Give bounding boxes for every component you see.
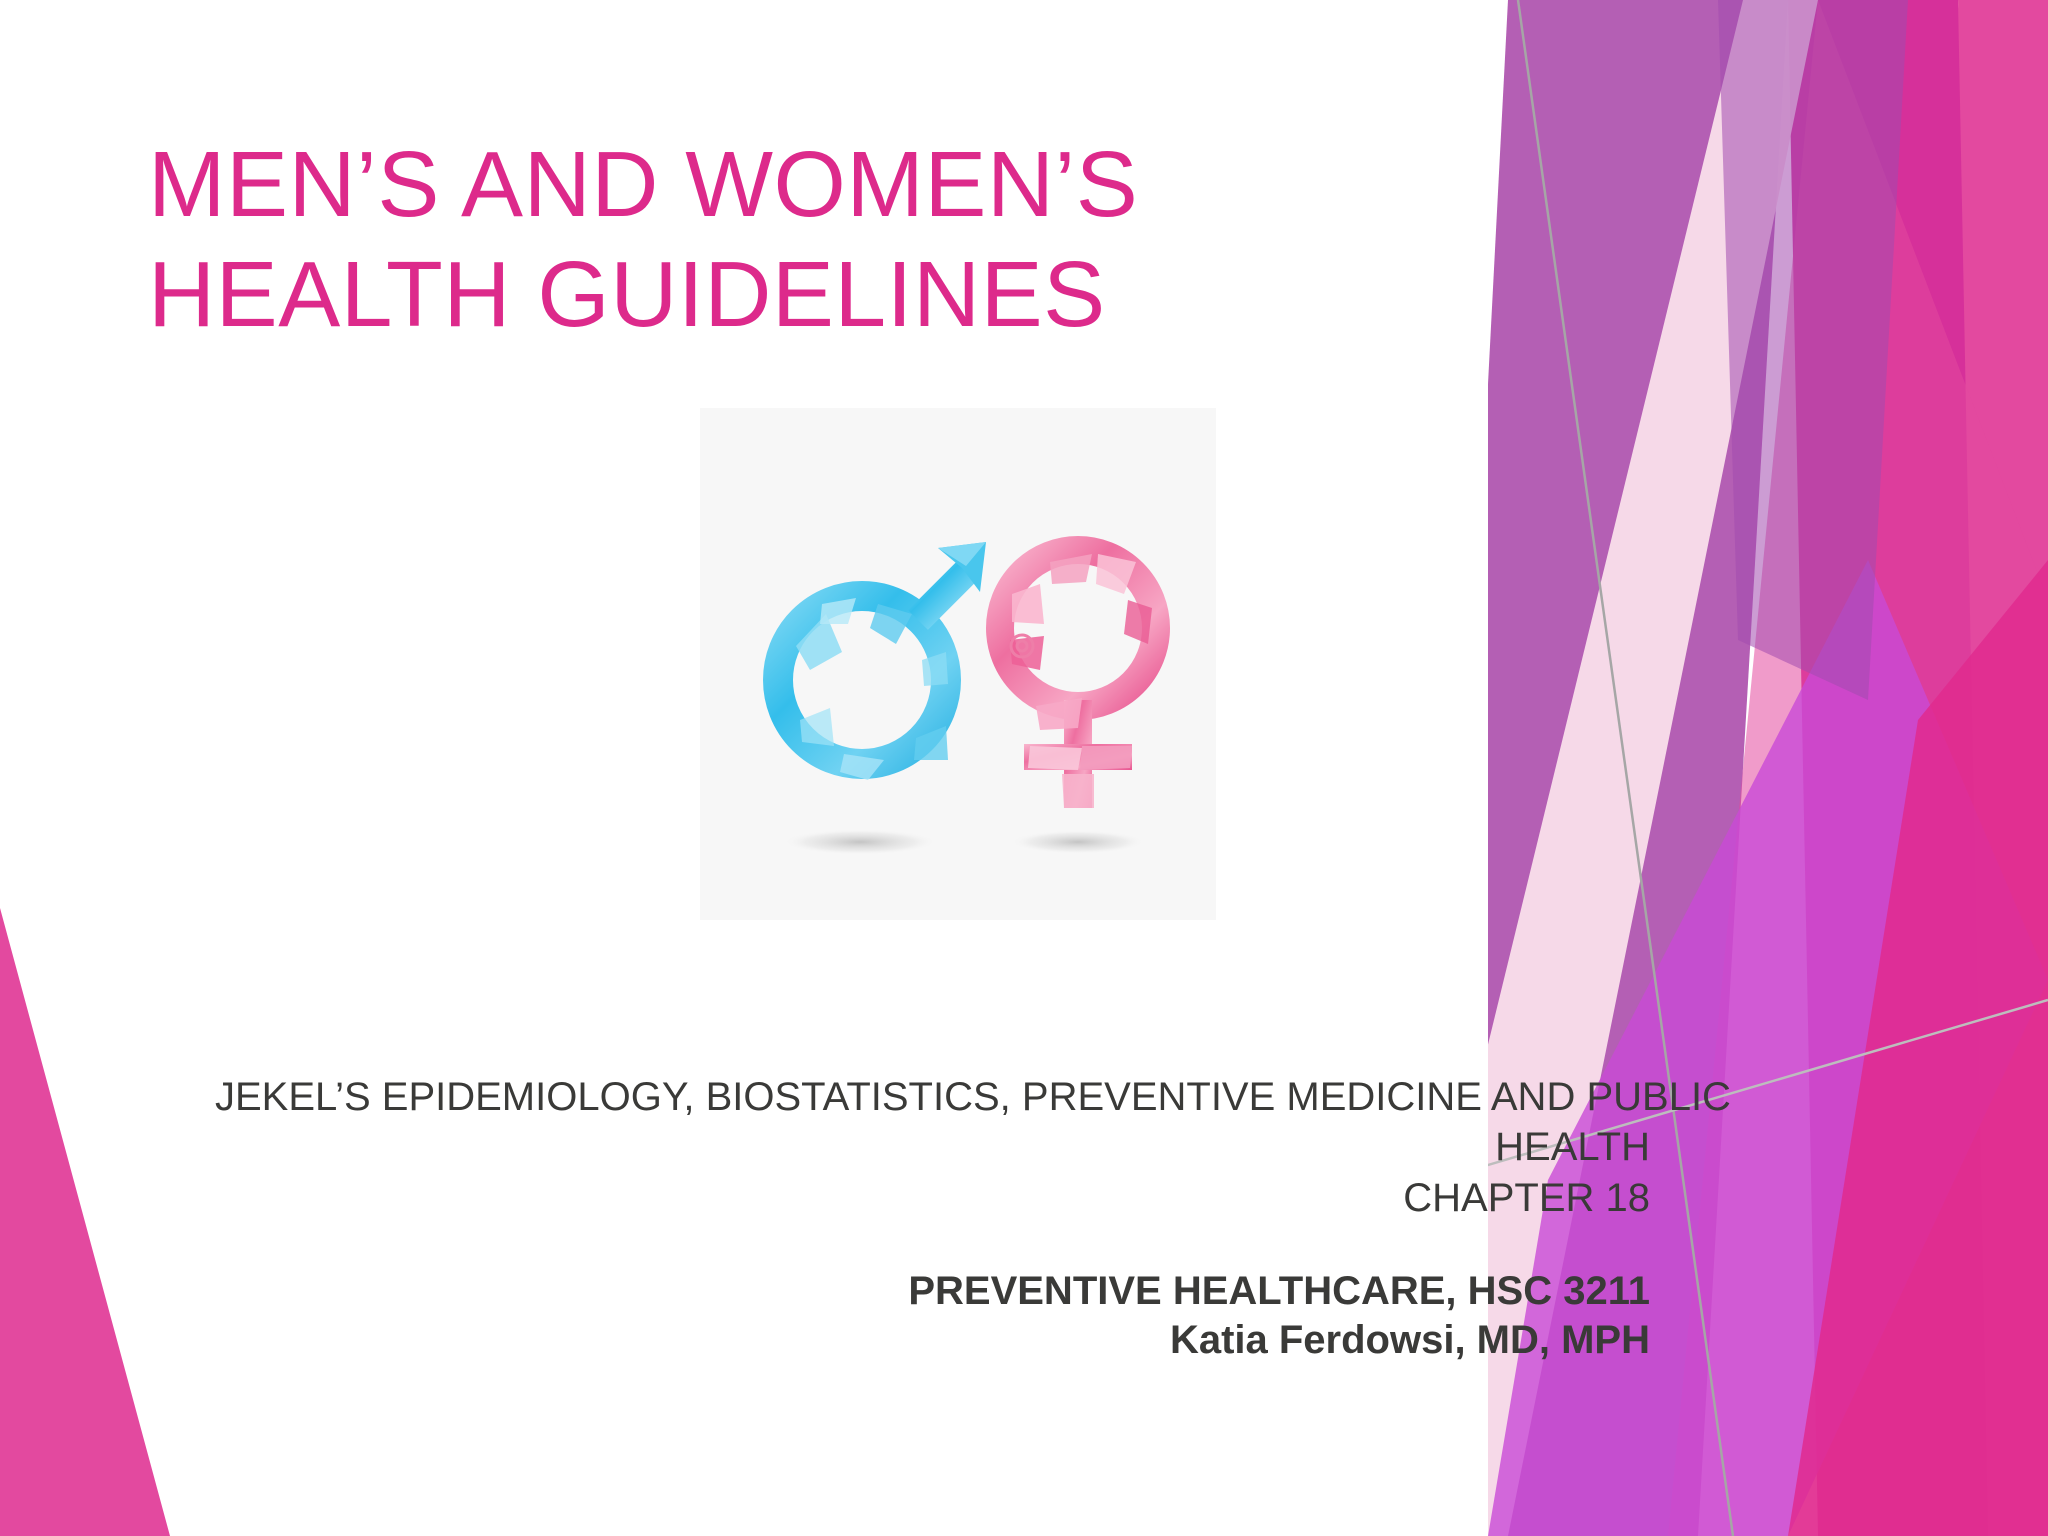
deco-magenta-lower bbox=[1788, 560, 2048, 1536]
deco-violet-triangle bbox=[1488, 560, 2048, 1536]
male-shadow bbox=[782, 829, 938, 855]
male-female-symbols-image bbox=[700, 408, 1216, 920]
presentation-slide: MEN’S AND WOMEN’S HEALTH GUIDELINES bbox=[0, 0, 2048, 1536]
page-title: MEN’S AND WOMEN’S HEALTH GUIDELINES bbox=[148, 130, 1328, 349]
deco-magenta-band bbox=[1788, 0, 2048, 1536]
course-line: PREVENTIVE HEALTHCARE, HSC 3211 bbox=[215, 1267, 1650, 1316]
deco-pink-band bbox=[1958, 0, 2048, 1536]
deco-pink-shard bbox=[1668, 0, 2048, 1536]
author-line: Katia Ferdowsi, MD, MPH bbox=[215, 1316, 1650, 1365]
female-shadow bbox=[1010, 830, 1146, 854]
title-line-2: HEALTH GUIDELINES bbox=[148, 240, 1328, 350]
subtitle-line-1: JEKEL’S EPIDEMIOLOGY, BIOSTATISTICS, PRE… bbox=[215, 1072, 1650, 1122]
subtitle-line-2: HEALTH bbox=[215, 1122, 1650, 1172]
subtitle-spacer bbox=[215, 1223, 1650, 1267]
title-line-1: MEN’S AND WOMEN’S bbox=[148, 130, 1328, 240]
subtitle-line-3: CHAPTER 18 bbox=[215, 1173, 1650, 1223]
gender-symbols-artwork bbox=[700, 408, 1216, 920]
left-pink-wedge bbox=[0, 908, 170, 1536]
subtitle-block: JEKEL’S EPIDEMIOLOGY, BIOSTATISTICS, PRE… bbox=[215, 1072, 1650, 1365]
deco-deep-purple-wedge bbox=[1718, 0, 1908, 700]
